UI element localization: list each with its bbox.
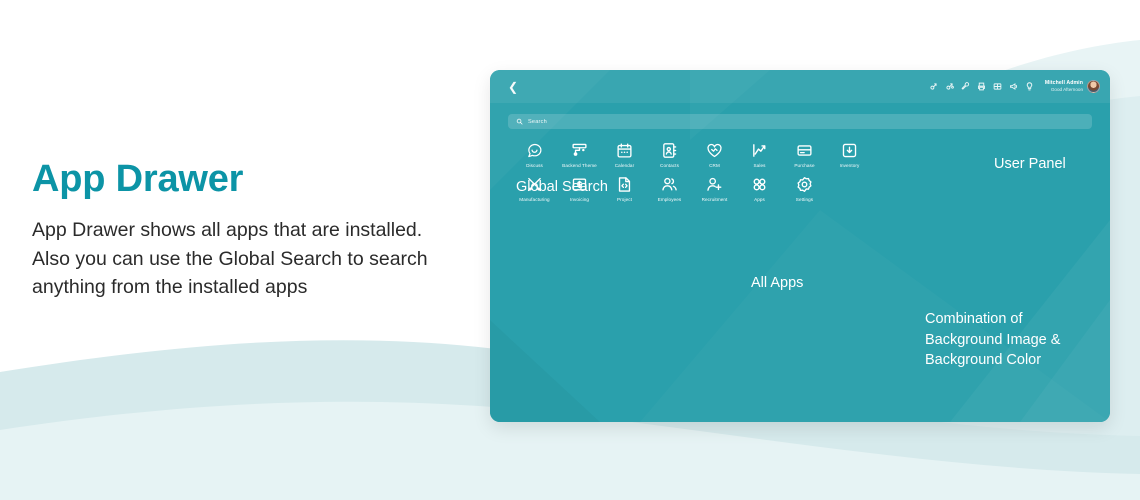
user-text: Mitchell Admin Good Afternoon [1045, 80, 1083, 92]
systray: Mitchell Admin Good Afternoon [929, 80, 1100, 93]
user-panel[interactable]: Mitchell Admin Good Afternoon [1045, 80, 1100, 93]
settings-gear-icon [796, 176, 813, 193]
bulb-icon[interactable] [1025, 82, 1034, 91]
sales-chart-icon [751, 142, 768, 159]
page-title: App Drawer [32, 160, 432, 200]
page-description: App Drawer shows all apps that are insta… [32, 216, 432, 302]
annotation-label-line-2: Background Image & [925, 330, 1060, 351]
purchase-card-icon [796, 142, 813, 159]
app-employees[interactable]: Employees [647, 176, 692, 202]
chevron-left-icon[interactable]: ❮ [508, 81, 518, 93]
crm-heart-icon [706, 142, 723, 159]
megaphone-icon[interactable] [1009, 82, 1018, 91]
app-sales[interactable]: Sales [737, 142, 782, 168]
contacts-icon [661, 142, 678, 159]
user-name: Mitchell Admin [1045, 80, 1083, 87]
app-backend-theme[interactable]: Backend Theme [557, 142, 602, 168]
annotation-global-search: Global Search [516, 178, 608, 197]
annotation-label: All Apps [751, 274, 803, 293]
app-label: Settings [796, 197, 813, 202]
bug-activity-icon[interactable] [945, 82, 954, 91]
app-label: CRM [709, 163, 720, 168]
app-label: Contacts [660, 163, 679, 168]
search-input[interactable]: Search [508, 114, 1092, 129]
app-purchase[interactable]: Purchase [782, 142, 827, 168]
annotation-user-panel: User Panel [994, 155, 1066, 174]
app-label: Employees [658, 197, 682, 202]
annotation-background: Combination of Background Image & Backgr… [925, 309, 1060, 371]
recruitment-add-user-icon [706, 176, 723, 193]
app-settings[interactable]: Settings [782, 176, 827, 202]
app-contacts[interactable]: Contacts [647, 142, 692, 168]
app-label: Recruitment [702, 197, 728, 202]
app-discuss[interactable]: Discuss [512, 142, 557, 168]
search-area: Search [490, 103, 1110, 129]
avatar[interactable] [1087, 80, 1100, 93]
app-label: Inventory [840, 163, 860, 168]
slide-canvas: App Drawer App Drawer shows all apps tha… [0, 0, 1140, 500]
employees-icon [661, 176, 678, 193]
search-placeholder: Search [528, 119, 547, 125]
app-label: Discuss [526, 163, 543, 168]
print-icon[interactable] [977, 82, 986, 91]
project-code-icon [616, 176, 633, 193]
discuss-icon [526, 142, 543, 159]
grid-icon[interactable] [993, 82, 1002, 91]
copy-block: App Drawer App Drawer shows all apps tha… [32, 160, 432, 302]
app-label: Invoicing [570, 197, 589, 202]
app-label: Sales [754, 163, 766, 168]
panel-top-bar: ❮ Mitchell Admin Good Afternoon [490, 70, 1110, 103]
app-label: Apps [754, 197, 765, 202]
bug-icon[interactable] [929, 82, 938, 91]
app-label: Backend Theme [562, 163, 597, 168]
app-apps[interactable]: Apps [737, 176, 782, 202]
app-crm[interactable]: CRM [692, 142, 737, 168]
annotation-label: Global Search [516, 178, 608, 197]
app-label: Purchase [794, 163, 814, 168]
annotation-label-line-3: Background Color [925, 350, 1060, 371]
apps-grid-icon [751, 176, 768, 193]
app-label: Project [617, 197, 632, 202]
annotation-label-line-1: Combination of [925, 309, 1060, 330]
app-label: Calendar [615, 163, 634, 168]
app-inventory[interactable]: Inventory [827, 142, 872, 168]
annotation-label: User Panel [994, 155, 1066, 174]
annotation-all-apps: All Apps [751, 274, 803, 293]
app-calendar[interactable]: Calendar [602, 142, 647, 168]
search-icon [516, 118, 523, 125]
app-label: Manufacturing [519, 197, 549, 202]
wrench-icon[interactable] [961, 82, 970, 91]
calendar-icon [616, 142, 633, 159]
paint-roller-icon [571, 142, 588, 159]
inventory-box-icon [841, 142, 858, 159]
app-recruitment[interactable]: Recruitment [692, 176, 737, 202]
user-greeting: Good Afternoon [1045, 87, 1083, 93]
app-project[interactable]: Project [602, 176, 647, 202]
